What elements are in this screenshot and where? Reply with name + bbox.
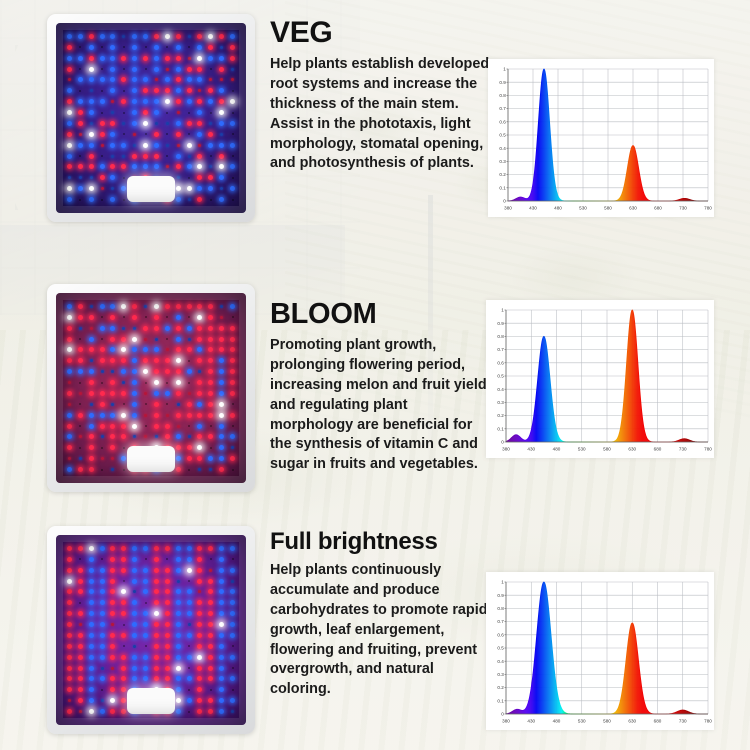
led-dot [118,64,129,75]
led-dot [173,388,184,399]
led-dot [97,565,108,576]
led-dot [195,183,206,194]
led-dot [216,172,227,183]
led-dot [216,64,227,75]
led-dot [129,421,140,432]
svg-text:0.3: 0.3 [499,159,506,164]
led-dot [140,597,151,608]
led-dot [195,172,206,183]
led-dot [162,366,173,377]
led-dot [64,684,75,695]
svg-text:380: 380 [504,206,512,211]
led-dot [205,706,216,717]
led-dot [64,453,75,464]
led-panel-frame [47,14,255,222]
led-dot [140,366,151,377]
led-dot [151,129,162,140]
led-dot [75,453,86,464]
led-dot [162,565,173,576]
led-dot [118,96,129,107]
led-dot [64,554,75,565]
led-dot [184,565,195,576]
svg-text:430: 430 [529,206,537,211]
led-dot [86,31,97,42]
led-dot [97,554,108,565]
text-block-full-brightness: Full brightness Help plants continuously… [270,530,492,700]
led-dot [227,464,238,475]
led-dot [162,53,173,64]
led-dot [184,630,195,641]
led-dot [184,312,195,323]
led-dot [75,172,86,183]
led-dot [173,432,184,443]
led-dot [129,31,140,42]
led-dot [97,674,108,685]
led-dot [86,565,97,576]
led-dot [64,312,75,323]
led-dot [75,565,86,576]
led-dot [162,597,173,608]
led-dot [216,85,227,96]
led-dot [140,674,151,685]
led-dot [129,432,140,443]
led-dot [140,345,151,356]
led-dot [140,619,151,630]
led-dot [97,75,108,86]
led-dot [151,619,162,630]
led-dot [205,608,216,619]
led-dot [86,706,97,717]
spectrum-chart-veg-svg: 38043048053058063068073078000.10.20.30.4… [488,59,714,217]
led-dot [205,334,216,345]
led-dot [205,75,216,86]
led-dot [97,151,108,162]
led-dot [75,75,86,86]
led-dot [118,597,129,608]
led-dot [97,355,108,366]
led-dot [75,619,86,630]
led-dot [108,31,119,42]
led-dot [86,442,97,453]
led-dot [195,630,206,641]
led-dot [108,706,119,717]
led-dot [129,75,140,86]
svg-text:530: 530 [579,206,587,211]
led-dot [184,464,195,475]
led-dot [195,323,206,334]
led-dot [75,42,86,53]
led-dot [205,432,216,443]
led-dot [75,323,86,334]
led-dot [162,421,173,432]
led-dot [75,377,86,388]
led-dot [162,31,173,42]
led-dot [75,684,86,695]
led-dot [86,684,97,695]
led-dot [108,75,119,86]
led-dot [173,399,184,410]
led-dot [162,674,173,685]
svg-text:380: 380 [502,719,510,724]
led-dot [129,118,140,129]
led-dot [64,388,75,399]
led-dot [151,399,162,410]
led-dot [140,96,151,107]
led-dot [162,663,173,674]
led-dot [173,42,184,53]
led-dot [86,334,97,345]
led-dot [184,684,195,695]
led-dot [129,399,140,410]
led-dot [227,334,238,345]
led-dot [162,576,173,587]
led-dot [227,301,238,312]
led-dot [75,345,86,356]
led-dot [205,355,216,366]
led-dot [195,684,206,695]
led-dot [162,323,173,334]
led-dot [75,107,86,118]
led-dot [86,388,97,399]
led-dot [173,630,184,641]
led-dot [227,597,238,608]
led-dot [173,345,184,356]
led-dot [64,565,75,576]
led-dot [64,464,75,475]
led-dot [173,334,184,345]
led-dot [64,355,75,366]
led-dot [140,301,151,312]
led-dot [195,129,206,140]
led-dot [118,31,129,42]
led-dot [195,597,206,608]
svg-text:0.6: 0.6 [497,632,504,637]
led-dot [184,377,195,388]
led-dot [97,410,108,421]
led-dot [216,323,227,334]
led-dot [75,695,86,706]
section-full-brightness: Full brightness Help plants continuously… [0,522,750,750]
svg-text:530: 530 [578,447,586,452]
led-dot [75,53,86,64]
led-dot [184,641,195,652]
led-dot [75,301,86,312]
svg-text:0.2: 0.2 [497,413,504,418]
led-dot [108,107,119,118]
led-dot [86,608,97,619]
led-dot [216,619,227,630]
led-dot [151,312,162,323]
led-dot [140,162,151,173]
led-dot [173,608,184,619]
led-dot [86,151,97,162]
led-dot [227,366,238,377]
led-dot [97,129,108,140]
led-dot [118,554,129,565]
page-title-full-brightness: Full brightness [270,530,492,554]
svg-text:530: 530 [578,719,586,724]
led-dot [216,576,227,587]
led-dot [108,162,119,173]
led-dot [205,630,216,641]
led-dot [205,345,216,356]
led-dot [129,53,140,64]
led-dot [140,151,151,162]
led-dot [108,183,119,194]
led-dot [173,75,184,86]
led-dot [205,619,216,630]
led-dot [97,366,108,377]
led-dot [162,85,173,96]
led-dot [184,118,195,129]
led-dot [86,107,97,118]
led-dot [75,597,86,608]
led-dot [205,64,216,75]
led-dot [86,630,97,641]
led-dot [129,388,140,399]
description-full-brightness: Help plants continuously accumulate and … [270,561,492,700]
led-dot [64,53,75,64]
led-dot [140,641,151,652]
led-dot [64,129,75,140]
led-dot [118,107,129,118]
led-dot [64,194,75,205]
led-dot [216,388,227,399]
led-dot [64,619,75,630]
led-dot [173,366,184,377]
led-dot [64,162,75,173]
svg-text:0.7: 0.7 [497,619,504,624]
led-dot [195,421,206,432]
led-dot [108,388,119,399]
led-dot [151,410,162,421]
led-dot [173,151,184,162]
led-dot [205,442,216,453]
led-dot [108,421,119,432]
led-dot [129,674,140,685]
led-dot [195,432,206,443]
led-dot [173,619,184,630]
led-dot [86,464,97,475]
led-dot [205,543,216,554]
led-dot [75,355,86,366]
led-dot [184,388,195,399]
led-dot [86,399,97,410]
led-dot [184,129,195,140]
led-dot [108,334,119,345]
led-dot [86,301,97,312]
led-dot [129,129,140,140]
led-dot [64,366,75,377]
led-dot [227,432,238,443]
led-dot [162,608,173,619]
led-dot [151,140,162,151]
led-dot [97,706,108,717]
led-dot [227,587,238,598]
led-dot [86,140,97,151]
led-dot [173,597,184,608]
led-dot [216,587,227,598]
led-dot [173,31,184,42]
led-dot [151,388,162,399]
led-dot [64,674,75,685]
led-dot [227,554,238,565]
led-dot [184,323,195,334]
led-dot [129,107,140,118]
led-dot [173,543,184,554]
led-dot [129,151,140,162]
led-dot [195,194,206,205]
led-dot [140,554,151,565]
led-dot [227,85,238,96]
led-dot [97,64,108,75]
led-dot [227,388,238,399]
led-dot [75,194,86,205]
spectrum-chart-veg: 38043048053058063068073078000.10.20.30.4… [488,59,714,217]
led-dot [195,674,206,685]
led-dot [140,630,151,641]
led-dot [151,641,162,652]
led-dot [184,334,195,345]
led-dot [64,31,75,42]
svg-text:0.4: 0.4 [499,146,506,151]
led-dot [108,42,119,53]
led-dot [216,674,227,685]
led-dot [86,641,97,652]
led-dot [184,652,195,663]
led-dot [151,151,162,162]
led-dot [140,107,151,118]
led-dot [75,31,86,42]
svg-text:0.6: 0.6 [499,119,506,124]
led-dot [97,85,108,96]
led-dot [118,312,129,323]
led-dot [108,663,119,674]
led-dot [195,107,206,118]
led-dot [216,464,227,475]
led-dot [216,355,227,366]
led-dot [129,597,140,608]
led-dot [205,85,216,96]
led-dot [205,183,216,194]
led-dot [162,641,173,652]
led-dot [140,576,151,587]
led-dot [97,96,108,107]
led-dot [118,75,129,86]
led-dot [86,118,97,129]
led-dot [195,334,206,345]
led-dot [216,442,227,453]
svg-text:1: 1 [501,308,504,313]
led-dot [184,194,195,205]
led-dot [195,151,206,162]
svg-text:480: 480 [554,206,562,211]
led-dot [195,619,206,630]
svg-text:1: 1 [503,67,506,72]
led-dot [97,663,108,674]
led-dot [118,674,129,685]
led-dot [108,53,119,64]
svg-text:0.1: 0.1 [497,426,504,431]
led-dot [97,453,108,464]
led-dot [151,85,162,96]
led-dot [75,554,86,565]
svg-text:0.5: 0.5 [497,374,504,379]
led-dot [140,432,151,443]
led-dot [140,118,151,129]
led-dot [195,663,206,674]
led-dot [108,323,119,334]
led-dot [173,301,184,312]
led-dot [64,706,75,717]
svg-text:0: 0 [501,440,504,445]
led-dot [75,334,86,345]
led-dot [86,355,97,366]
led-dot [64,543,75,554]
led-dot [205,597,216,608]
led-dot [184,674,195,685]
led-dot [216,597,227,608]
led-dot [86,85,97,96]
svg-text:0.3: 0.3 [497,400,504,405]
led-dot [108,464,119,475]
led-dot [205,587,216,598]
led-panel-surface [56,23,246,213]
led-dot [108,151,119,162]
led-dot [108,587,119,598]
led-dot [227,674,238,685]
led-dot [75,543,86,554]
led-dot [64,183,75,194]
svg-text:580: 580 [604,206,612,211]
led-dot [151,630,162,641]
led-dot [129,355,140,366]
led-dot [75,576,86,587]
led-dot [97,118,108,129]
led-panel-bloom [47,284,255,492]
led-dot [195,695,206,706]
led-dot [129,140,140,151]
led-dot [97,323,108,334]
led-dot [86,172,97,183]
led-dot [216,107,227,118]
led-dot [97,334,108,345]
led-dot [64,151,75,162]
svg-text:0.5: 0.5 [497,646,504,651]
description-veg: Help plants establish developed root sys… [270,55,492,174]
svg-text:680: 680 [654,447,662,452]
led-dot [184,42,195,53]
led-dot [75,162,86,173]
led-dot [184,355,195,366]
led-panel-full-brightness [47,526,255,734]
led-dot [64,663,75,674]
svg-text:430: 430 [527,719,535,724]
led-dot [205,172,216,183]
led-dot [227,96,238,107]
led-dot [97,183,108,194]
led-dot [184,706,195,717]
led-dot [64,597,75,608]
led-dot [205,96,216,107]
led-dot [140,663,151,674]
led-dot [195,64,206,75]
led-dot [205,323,216,334]
led-dot [227,64,238,75]
svg-text:0.7: 0.7 [499,106,506,111]
led-dot [162,399,173,410]
led-dot [118,587,129,598]
